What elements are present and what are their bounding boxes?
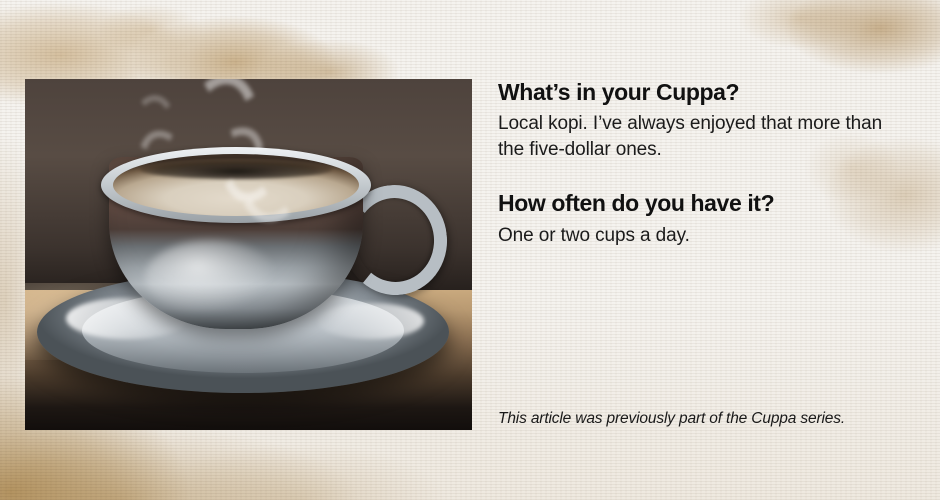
question-heading: What’s in your Cuppa? (498, 78, 898, 106)
qa-block: What’s in your Cuppa? Local kopi. I’ve a… (498, 78, 898, 163)
cup-highlight (145, 240, 277, 316)
question-heading: How often do you have it? (498, 189, 898, 217)
cuppa-article-card: What’s in your Cuppa? Local kopi. I’ve a… (0, 0, 940, 500)
coffee-surface (113, 154, 359, 216)
answer-text: Local kopi. I’ve always enjoyed that mor… (498, 111, 898, 163)
coffee-dark-ring (140, 160, 332, 179)
answer-text: One or two cups a day. (498, 223, 898, 249)
coffee-cup-photo (25, 79, 472, 430)
article-footnote: This article was previously part of the … (498, 410, 908, 428)
qa-text-column: What’s in your Cuppa? Local kopi. I’ve a… (498, 78, 898, 249)
saucer-highlight-right (317, 303, 424, 340)
qa-block: How often do you have it? One or two cup… (498, 189, 898, 248)
cup-rim (101, 147, 371, 223)
